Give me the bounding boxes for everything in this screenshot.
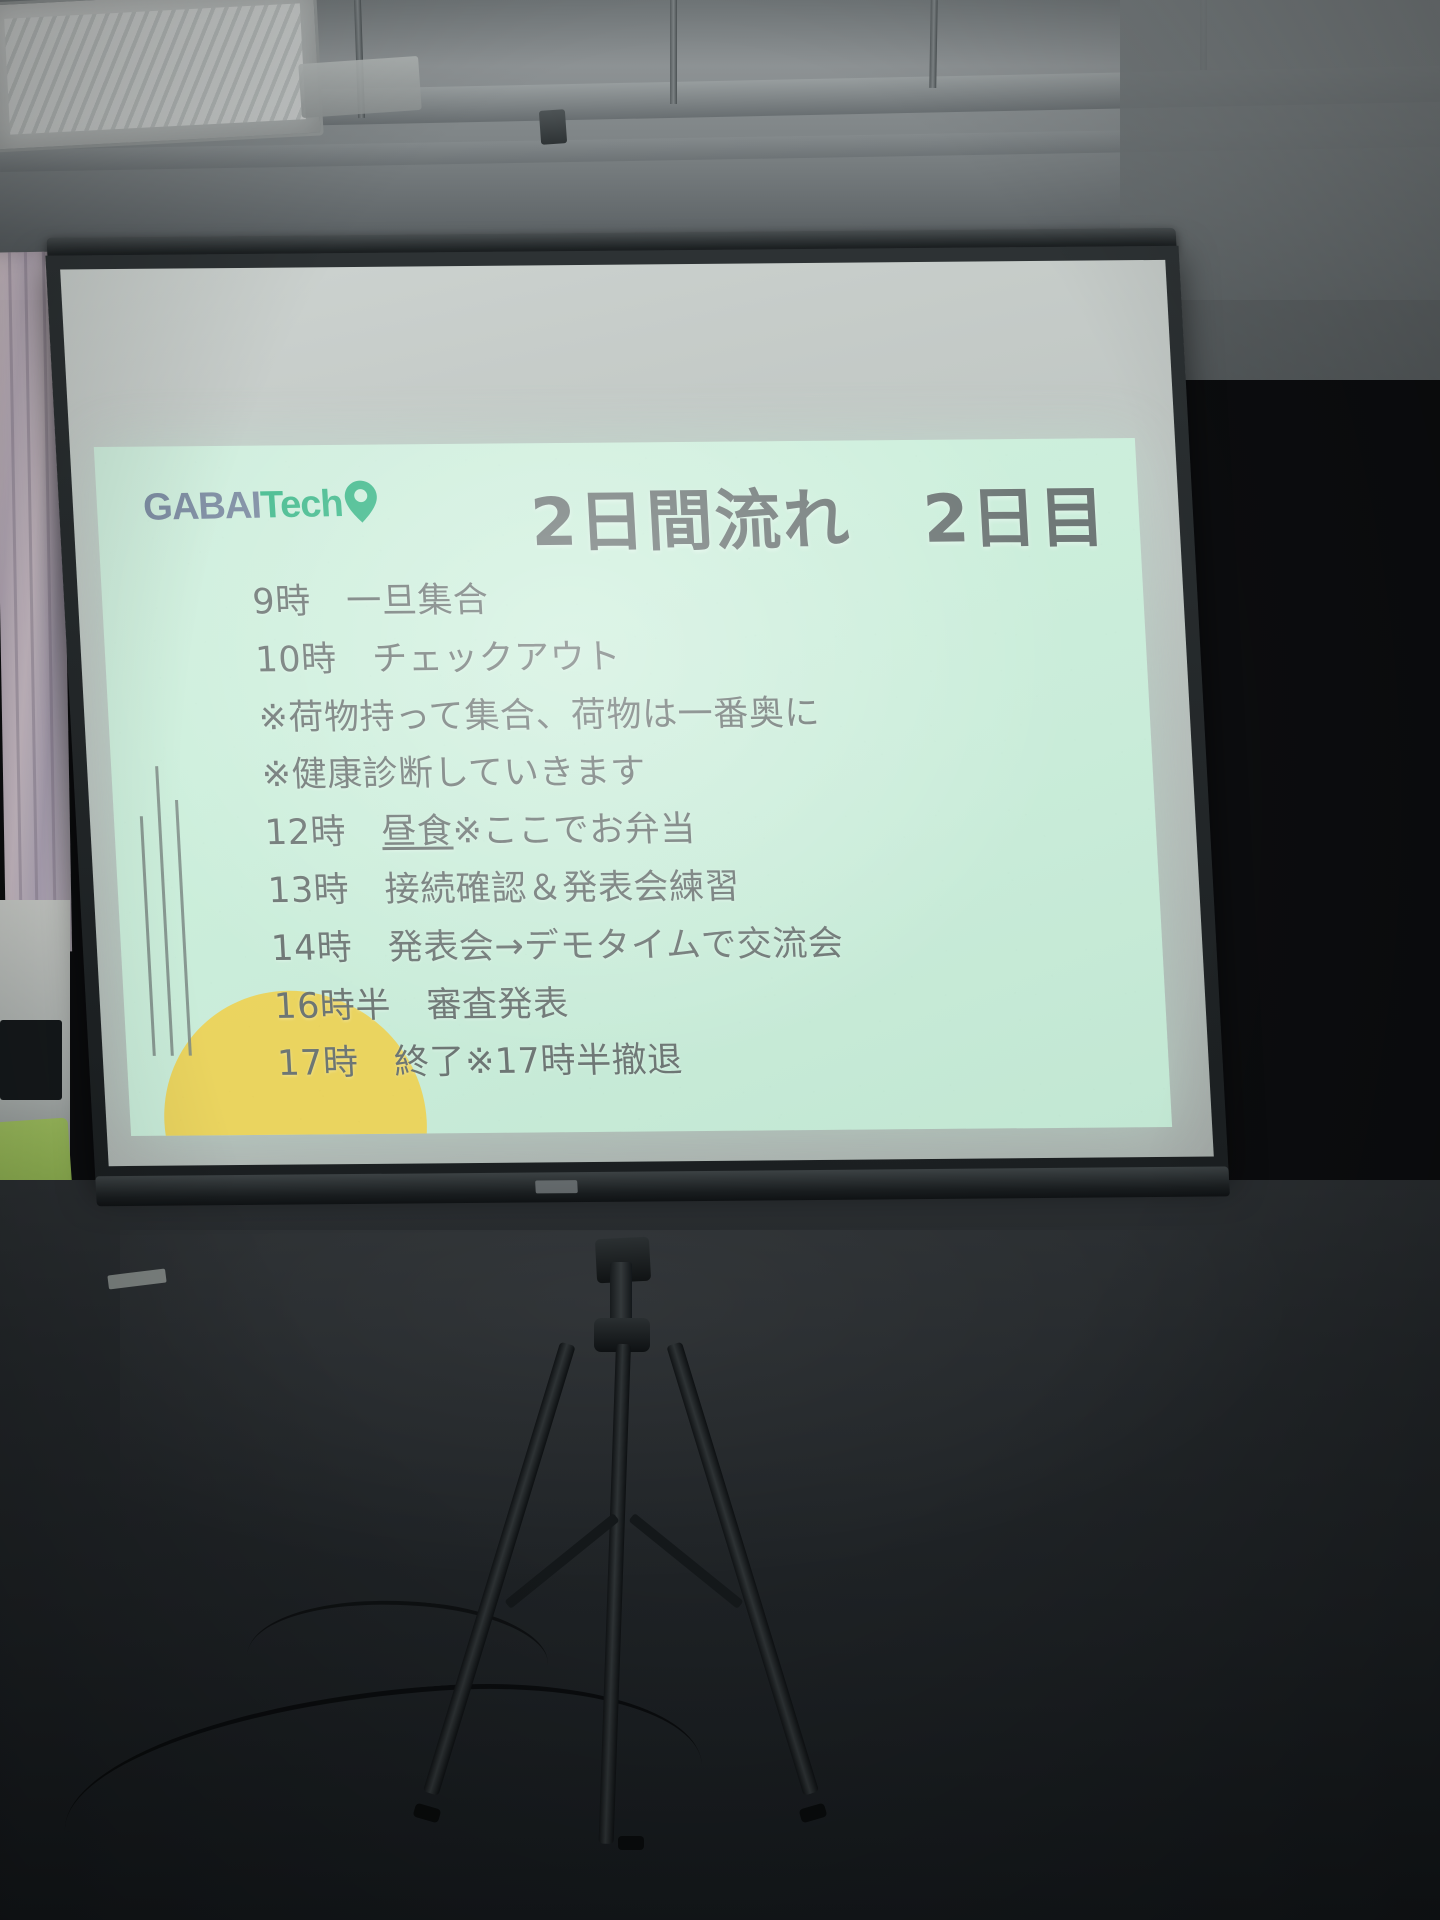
floor-light-reflection (120, 1230, 1320, 1590)
vertical-lines-decoration (133, 756, 219, 1056)
schedule-line-lunch: 12時 昼食※ここでお弁当 (264, 801, 1128, 860)
schedule-line: 14時 発表会→デモタイムで交流会 (270, 916, 1134, 975)
schedule-line: ※荷物持って集合、荷物は一番奥に (257, 685, 1121, 744)
schedule-line: 13時 接続確認＆発表会練習 (267, 859, 1131, 918)
air-vent (298, 56, 421, 118)
schedule-line: ※健康診断していきます (260, 743, 1124, 802)
slide-title-day: 2日目 (920, 464, 1109, 561)
screen-frame: GABAI Tech 2日間流れ 2日目 (45, 246, 1228, 1185)
photo-stage: GABAI Tech 2日間流れ 2日目 (0, 0, 1440, 1920)
schedule-list: 9時 一旦集合 10時 チェックアウト ※荷物持って集合、荷物は一番奥に ※健康… (251, 570, 1140, 1091)
ceiling-pipe (929, 0, 938, 88)
slide-title: 2日間流れ 2日目 (95, 464, 1141, 569)
screen-surface: GABAI Tech 2日間流れ 2日目 (60, 260, 1214, 1166)
schedule-line: 16時半 審査発表 (273, 974, 1137, 1033)
slide-title-main: 2日間流れ (528, 466, 853, 565)
schedule-line: 10時 チェックアウト (254, 628, 1118, 687)
screen-brand-badge (535, 1180, 578, 1193)
schedule-line: 17時 終了※17時半撤退 (276, 1032, 1140, 1091)
schedule-line: 9時 一旦集合 (251, 570, 1115, 629)
projection-screen: GABAI Tech 2日間流れ 2日目 (22, 110, 1244, 1248)
floor-object (0, 1020, 62, 1100)
ceiling-pipe (670, 0, 677, 104)
projected-slide: GABAI Tech 2日間流れ 2日目 (94, 438, 1172, 1136)
